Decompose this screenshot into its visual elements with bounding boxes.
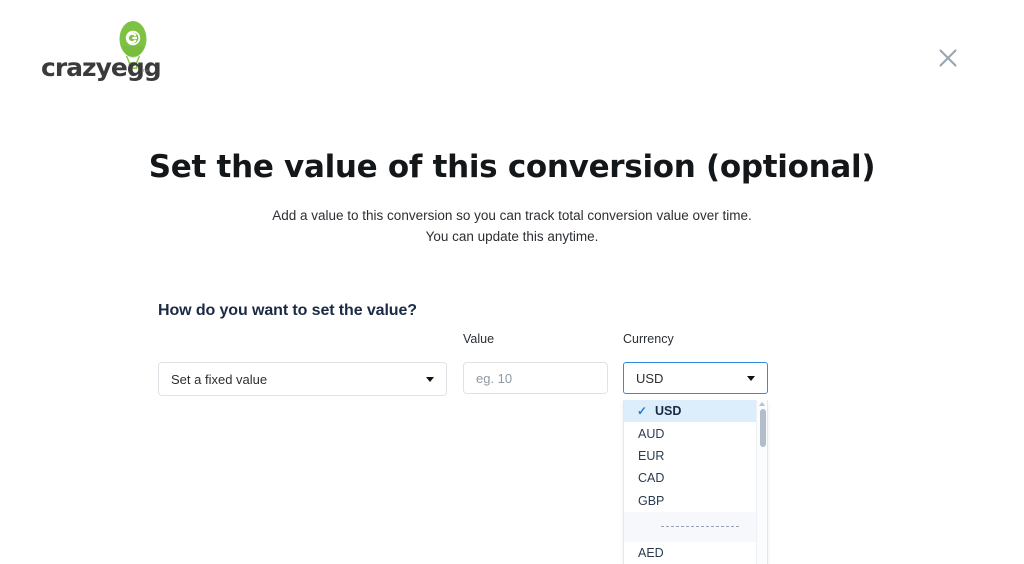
dropdown-separator <box>624 512 768 542</box>
value-field: Value eg. 10 <box>463 342 608 394</box>
currency-field: Currency USD <box>623 342 768 394</box>
dropdown-option-gbp[interactable]: GBP <box>624 490 768 512</box>
dropdown-option-aud[interactable]: AUD <box>624 422 768 444</box>
form-controls-row: Set a fixed value Value eg. 10 Currency … <box>158 342 878 394</box>
dropdown-option-label: AUD <box>638 427 664 441</box>
currency-selected-label: USD <box>636 371 663 386</box>
dropdown-option-usd[interactable]: ✓USD <box>624 400 768 422</box>
logo-wordmark: crazyegg <box>41 55 161 80</box>
currency-option-list: ✓USDAUDEURCADGBPAEDAFN <box>624 400 768 564</box>
conversion-value-modal: crazyegg ™ Set the value of this convers… <box>0 0 1024 564</box>
currency-dropdown-menu[interactable]: ✓USDAUDEURCADGBPAEDAFN <box>623 400 768 564</box>
close-button[interactable] <box>934 44 962 72</box>
page-subtitle: Add a value to this conversion so you ca… <box>0 205 1024 247</box>
dropdown-option-label: EUR <box>638 449 664 463</box>
value-type-field: Set a fixed value <box>158 342 447 396</box>
dropdown-scrollbar[interactable] <box>756 400 767 564</box>
subtitle-line-1: Add a value to this conversion so you ca… <box>0 205 1024 226</box>
scroll-up-arrow-icon[interactable] <box>759 402 765 406</box>
value-label: Value <box>463 332 608 346</box>
logo-trademark: ™ <box>142 69 149 76</box>
value-input-placeholder: eg. 10 <box>476 371 512 386</box>
value-type-selected-label: Set a fixed value <box>171 372 267 387</box>
currency-label: Currency <box>623 332 768 346</box>
form-heading: How do you want to set the value? <box>158 302 878 320</box>
dropdown-separator-line <box>661 526 739 527</box>
dropdown-option-eur[interactable]: EUR <box>624 445 768 467</box>
value-form: How do you want to set the value? Set a … <box>158 302 878 394</box>
check-icon: ✓ <box>637 404 647 418</box>
dropdown-option-aed[interactable]: AED <box>624 542 768 564</box>
close-icon <box>937 47 959 69</box>
value-input[interactable]: eg. 10 <box>463 362 608 394</box>
crazyegg-logo: crazyegg ™ <box>41 20 181 82</box>
dropdown-option-label: CAD <box>638 471 664 485</box>
chevron-down-icon <box>426 377 434 382</box>
scrollbar-thumb[interactable] <box>760 409 766 447</box>
dropdown-option-cad[interactable]: CAD <box>624 467 768 489</box>
chevron-down-icon <box>747 376 755 381</box>
value-type-select[interactable]: Set a fixed value <box>158 362 447 396</box>
currency-select[interactable]: USD <box>623 362 768 394</box>
dropdown-option-label: GBP <box>638 494 664 508</box>
page-title: Set the value of this conversion (option… <box>0 149 1024 186</box>
dropdown-option-label: AED <box>638 546 664 560</box>
subtitle-line-2: You can update this anytime. <box>0 226 1024 247</box>
